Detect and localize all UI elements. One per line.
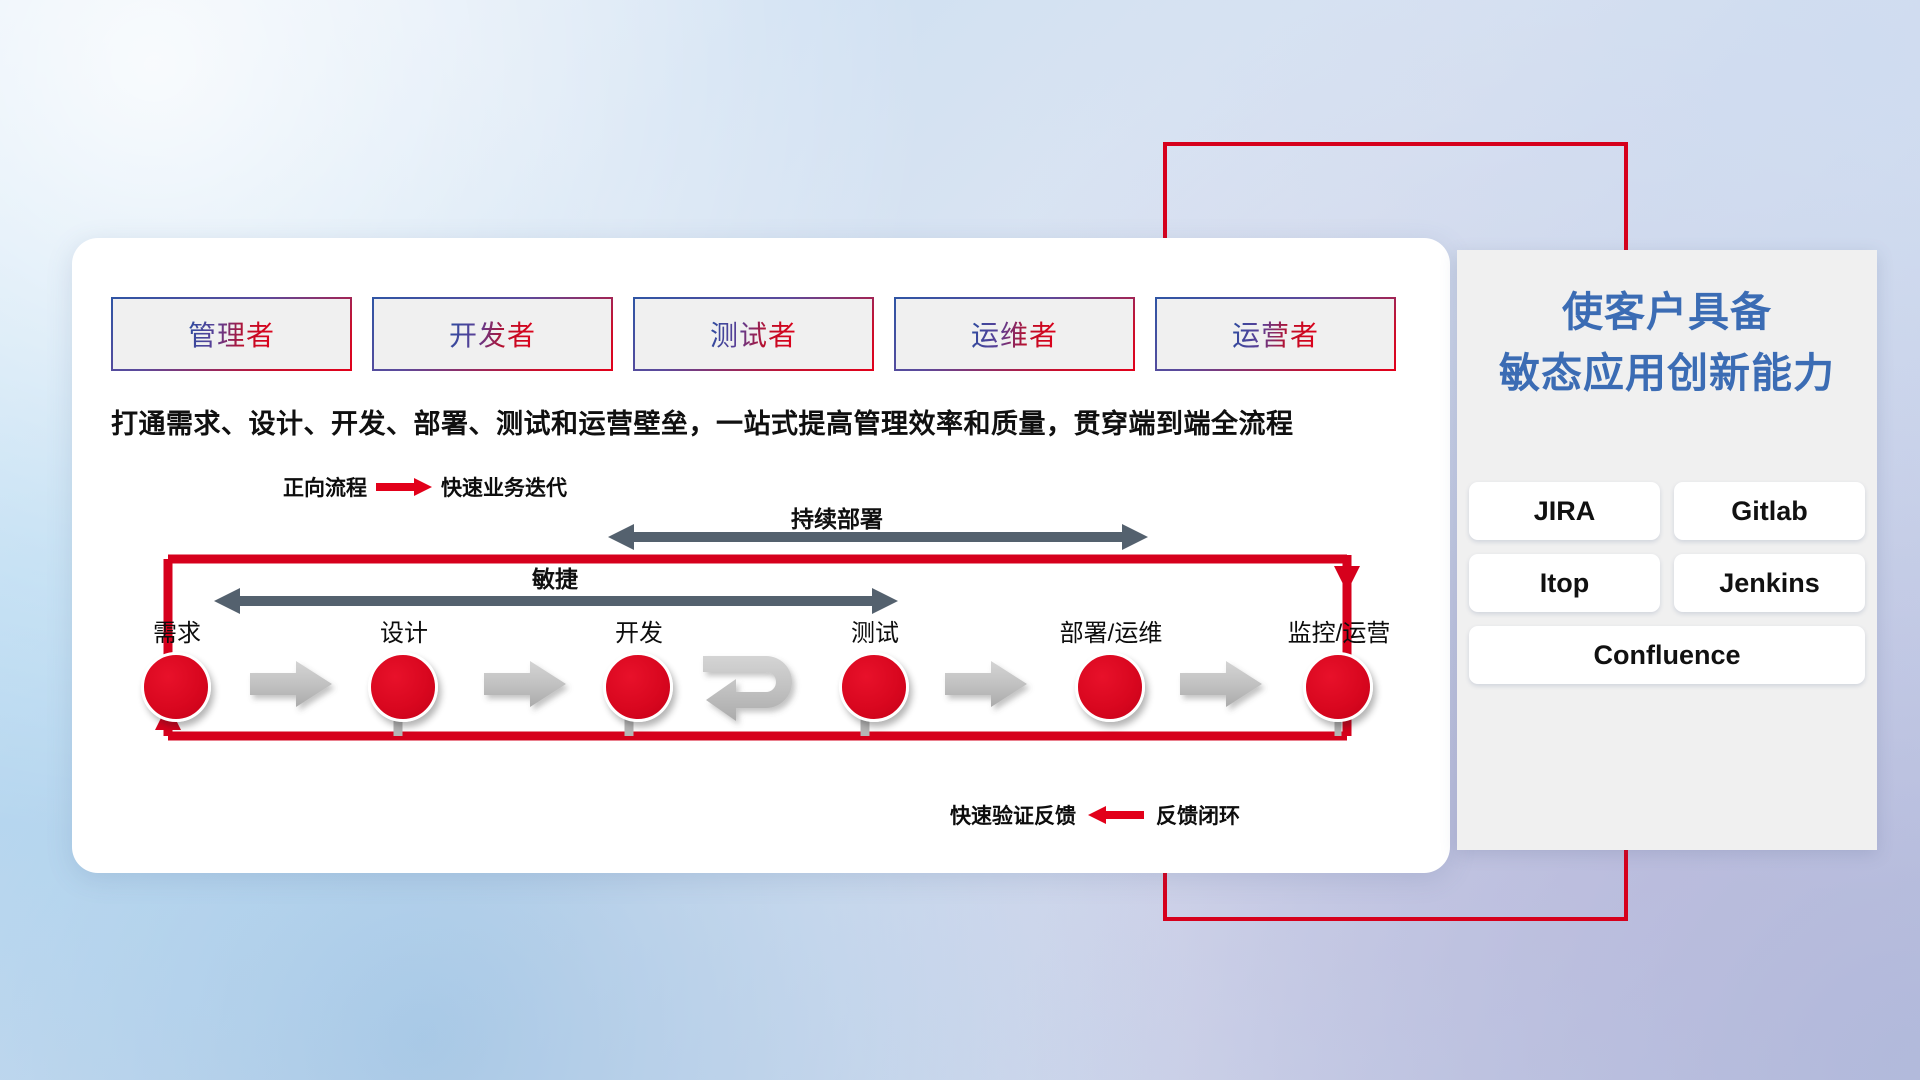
role-label: 运维者 <box>971 314 1058 354</box>
role-box-operations[interactable]: 运营者 <box>1155 297 1396 371</box>
process-node-design[interactable]: 设计 <box>368 612 440 722</box>
process-node-circle <box>603 652 673 722</box>
lane-label-agile: 敏捷 <box>532 560 578 594</box>
red-arrow-right-icon <box>376 478 432 496</box>
process-node-label: 监控/运营 <box>1288 613 1391 648</box>
tool-chip-confluence[interactable]: Confluence <box>1469 626 1865 684</box>
legend-feedback-left-label: 快速验证反馈 <box>950 800 1076 830</box>
panel-heading-line-1: 使客户具备 <box>1457 282 1877 343</box>
role-label: 运营者 <box>1232 314 1319 354</box>
process-node-development[interactable]: 开发 <box>603 612 675 722</box>
tool-chip-gitlab[interactable]: Gitlab <box>1674 482 1865 540</box>
role-box-ops[interactable]: 运维者 <box>894 297 1135 371</box>
red-arrow-left-icon <box>1088 806 1144 824</box>
legend-feedback-loop: 快速验证反馈 反馈闭环 <box>950 800 1240 830</box>
role-label: 测试者 <box>710 314 797 354</box>
process-node-testing[interactable]: 测试 <box>839 612 911 722</box>
panel-heading: 使客户具备 敏态应用创新能力 <box>1457 282 1877 403</box>
legend-forward-flow: 正向流程 快速业务迭代 <box>283 472 567 502</box>
legend-forward-right-label: 快速业务迭代 <box>441 472 567 502</box>
process-node-deploy-ops[interactable]: 部署/运维 <box>1075 612 1147 722</box>
lane-label-continuous-deployment: 持续部署 <box>791 500 883 534</box>
process-node-label: 开发 <box>615 613 663 648</box>
description-text: 打通需求、设计、开发、部署、测试和运营壁垒，一站式提高管理效率和质量，贯穿端到端… <box>111 402 1411 441</box>
tool-chip-grid: JIRA Gitlab Itop Jenkins Confluence <box>1469 482 1865 684</box>
process-node-label: 设计 <box>380 613 428 648</box>
tool-chip-jira[interactable]: JIRA <box>1469 482 1660 540</box>
tool-chip-itop[interactable]: Itop <box>1469 554 1660 612</box>
process-node-circle <box>368 652 438 722</box>
process-node-label: 需求 <box>153 613 201 648</box>
process-node-circle <box>1075 652 1145 722</box>
role-box-tester[interactable]: 测试者 <box>633 297 874 371</box>
role-label: 开发者 <box>449 314 536 354</box>
process-node-requirement[interactable]: 需求 <box>141 612 213 722</box>
panel-heading-line-2: 敏态应用创新能力 <box>1457 343 1877 404</box>
role-box-manager[interactable]: 管理者 <box>111 297 352 371</box>
legend-feedback-right-label: 反馈闭环 <box>1156 800 1240 830</box>
process-node-circle <box>839 652 909 722</box>
process-node-circle <box>141 652 211 722</box>
role-box-row: 管理者 开发者 测试者 运维者 运营者 <box>111 297 1396 371</box>
process-node-circle <box>1303 652 1373 722</box>
value-proposition-panel: 使客户具备 敏态应用创新能力 JIRA Gitlab Itop Jenkins … <box>1457 250 1877 850</box>
process-node-label: 测试 <box>851 613 899 648</box>
process-node-monitor-operations[interactable]: 监控/运营 <box>1303 612 1375 722</box>
slide-canvas: 管理者 开发者 测试者 运维者 运营者 打通需求、设计、开发、部署、测试和运营壁… <box>0 0 1920 1080</box>
role-label: 管理者 <box>188 314 275 354</box>
process-node-label: 部署/运维 <box>1060 613 1163 648</box>
process-chain: 需求 设计 开发 测试 部署/运维 监控/运营 <box>115 612 1405 722</box>
tool-chip-jenkins[interactable]: Jenkins <box>1674 554 1865 612</box>
role-box-developer[interactable]: 开发者 <box>372 297 613 371</box>
legend-forward-left-label: 正向流程 <box>283 472 367 502</box>
